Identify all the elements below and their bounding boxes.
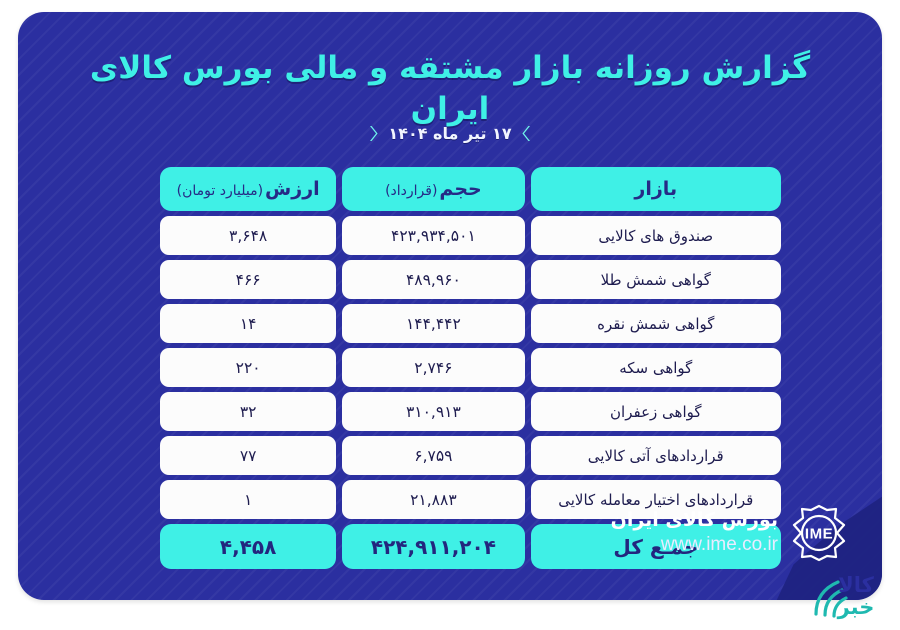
cell-volume: ۶,۷۵۹ [342,436,524,475]
cell-volume: ۱۴۴,۴۴۲ [342,304,524,343]
table-row: گواهی شمش طلا ۴۸۹,۹۶۰ ۴۶۶ [160,260,781,299]
cell-value: ۱۴ [160,304,336,343]
chevron-left-icon [369,126,378,141]
cell-market: گواهی سکه [531,348,782,387]
column-header-volume-main: حجم [439,178,481,200]
total-value: ۴,۴۵۸ [160,524,336,569]
cell-market: گواهی شمش طلا [531,260,782,299]
column-header-volume: حجم(قرارداد) [342,167,524,211]
watermark-text-bottom: خبر [837,595,875,619]
cell-market: قراردادهای آتی کالایی [531,436,782,475]
cell-market: صندوق های کالایی [531,216,782,255]
cell-value: ۳,۶۴۸ [160,216,336,255]
table-row: گواهی زعفران ۳۱۰,۹۱۳ ۳۲ [160,392,781,431]
chevron-right-icon [522,126,531,141]
footer-text-block: بورس کالای ایران www.ime.co.ir [611,508,778,557]
column-header-market: بازار [531,167,782,211]
column-header-value: ارزش(میلیارد تومان) [160,167,336,211]
cell-market: گواهی زعفران [531,392,782,431]
table-header-row: بازار حجم(قرارداد) ارزش(میلیارد تومان) [160,167,781,211]
report-date: ۱۷ تیر ماه ۱۴۰۴ [388,124,511,143]
title-block: گزارش روزانه بازار مشتقه و مالی بورس کال… [18,48,882,130]
cell-value: ۴۶۶ [160,260,336,299]
cell-market: گواهی شمش نقره [531,304,782,343]
brand-name-fa: بورس کالای ایران [611,508,778,533]
cell-volume: ۴۲۳,۹۳۴,۵۰۱ [342,216,524,255]
total-volume: ۴۲۴,۹۱۱,۲۰۴ [342,524,524,569]
column-header-volume-unit: (قرارداد) [385,183,437,199]
cell-value: ۲۲۰ [160,348,336,387]
cell-value: ۳۲ [160,392,336,431]
column-header-value-main: ارزش [265,178,320,200]
cell-value: ۷۷ [160,436,336,475]
page-title: گزارش روزانه بازار مشتقه و مالی بورس کال… [58,48,842,130]
cell-value: ۱ [160,480,336,519]
table-row: صندوق های کالایی ۴۲۳,۹۳۴,۵۰۱ ۳,۶۴۸ [160,216,781,255]
date-row: ۱۷ تیر ماه ۱۴۰۴ [18,124,882,143]
column-header-value-unit: (میلیارد تومان) [177,183,263,199]
cell-volume: ۳۱۰,۹۱۳ [342,392,524,431]
svg-text:IME: IME [805,526,833,543]
cell-volume: ۲۱,۸۸۳ [342,480,524,519]
report-card: گزارش روزانه بازار مشتقه و مالی بورس کال… [18,12,882,600]
cell-volume: ۲,۷۴۶ [342,348,524,387]
cell-volume: ۴۸۹,۹۶۰ [342,260,524,299]
table-row: گواهی شمش نقره ۱۴۴,۴۴۲ ۱۴ [160,304,781,343]
kalakhabar-watermark: کالا خبر [798,552,884,626]
watermark-text-top: کالا [838,573,875,597]
brand-website: www.ime.co.ir [611,533,778,558]
table-row: گواهی سکه ۲,۷۴۶ ۲۲۰ [160,348,781,387]
table-row: قراردادهای آتی کالایی ۶,۷۵۹ ۷۷ [160,436,781,475]
